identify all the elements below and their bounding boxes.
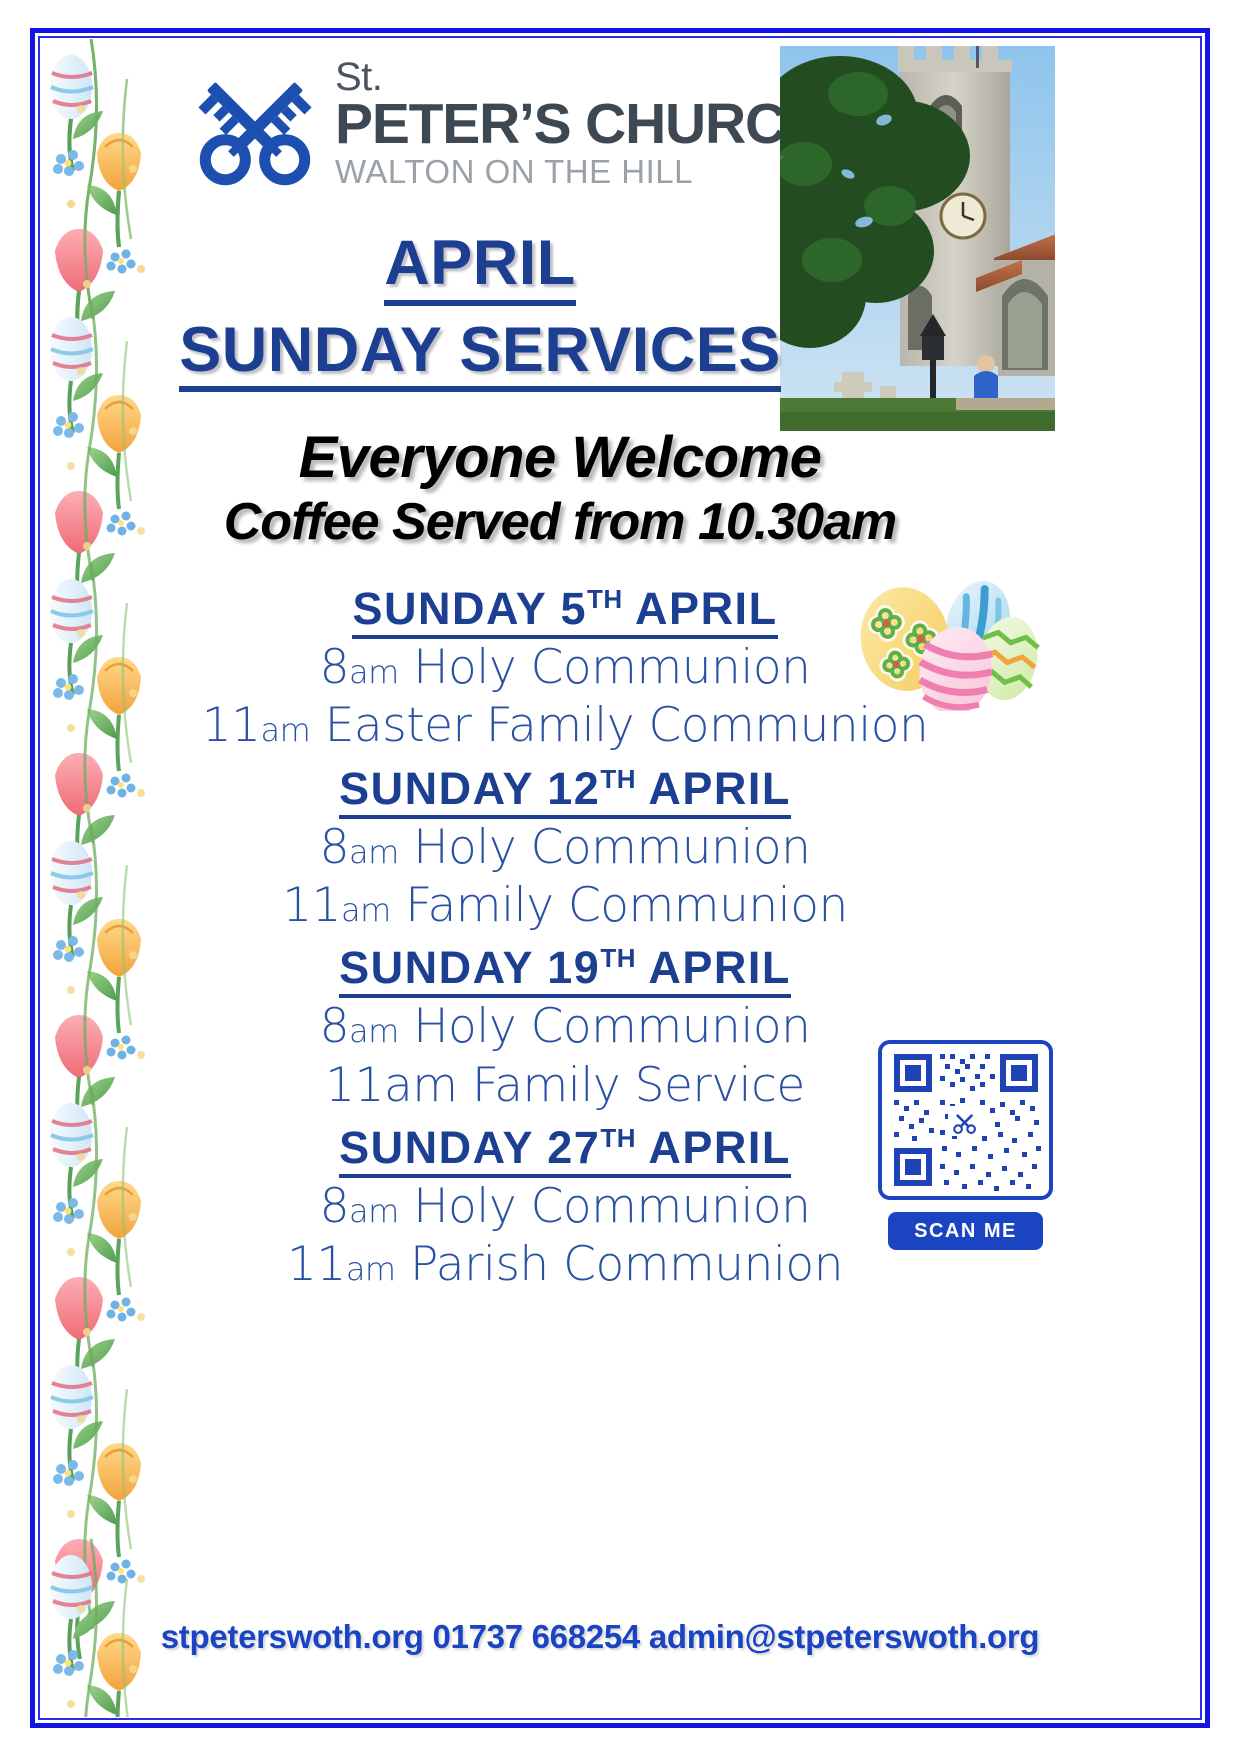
title-subject: SUNDAY SERVICES [179, 315, 781, 393]
brand-header: St. PETER’S CHURCH WALTON ON THE HILL [185, 50, 785, 215]
service-block: SUNDAY 5TH APRIL 8am Holy Communion 11am… [150, 582, 980, 756]
title-month: APRIL [384, 228, 576, 306]
qr-code-block[interactable]: SCAN ME [878, 1040, 1053, 1270]
service-list: SUNDAY 5TH APRIL 8am Holy Communion 11am… [150, 582, 980, 1301]
service-block: SUNDAY 12TH APRIL 8am Holy Communion 11a… [150, 762, 980, 936]
service-time-line: 8am Holy Communion [150, 639, 980, 697]
service-time-line: 8am Holy Communion [150, 998, 980, 1056]
service-time-line: 8am Holy Communion [150, 1178, 980, 1236]
scan-me-button[interactable]: SCAN ME [888, 1212, 1043, 1250]
service-block: SUNDAY 19TH APRIL 8am Holy Communion 11a… [150, 941, 980, 1115]
service-time-line: 11am Parish Communion [150, 1236, 980, 1294]
brand-line-st: St. [335, 58, 785, 96]
brand-wordmark: St. PETER’S CHURCH WALTON ON THE HILL [335, 58, 785, 191]
qr-code-icon[interactable] [878, 1040, 1053, 1200]
brand-line-church: PETER’S CHURCH [335, 96, 785, 153]
service-date-heading: SUNDAY 27TH APRIL [339, 1121, 791, 1178]
service-time-line: 8am Holy Communion [150, 819, 980, 877]
brand-line-location: WALTON ON THE HILL [335, 153, 785, 191]
tulip-border-icon [41, 39, 153, 1717]
service-date-heading: SUNDAY 5TH APRIL [352, 582, 777, 639]
service-time-line: 11am Family Communion [150, 877, 980, 935]
welcome-headline: Everyone Welcome [150, 424, 970, 491]
service-time-line: 11am Easter Family Communion [150, 697, 980, 755]
service-block: SUNDAY 27TH APRIL 8am Holy Communion 11a… [150, 1121, 980, 1295]
poster-root: St. PETER’S CHURCH WALTON ON THE HILL [0, 0, 1240, 1754]
service-date-heading: SUNDAY 19TH APRIL [339, 941, 791, 998]
service-date-heading: SUNDAY 12TH APRIL [339, 762, 791, 819]
church-photo [780, 46, 1055, 431]
page-title: APRIL SUNDAY SERVICES [160, 228, 800, 392]
service-time-line: 11am Family Service [150, 1057, 980, 1115]
coffee-subline: Coffee Served from 10.30am [150, 492, 970, 552]
crossed-keys-icon [185, 60, 325, 200]
footer-contact: stpeterswoth.org 01737 668254 admin@stpe… [150, 1618, 1050, 1656]
